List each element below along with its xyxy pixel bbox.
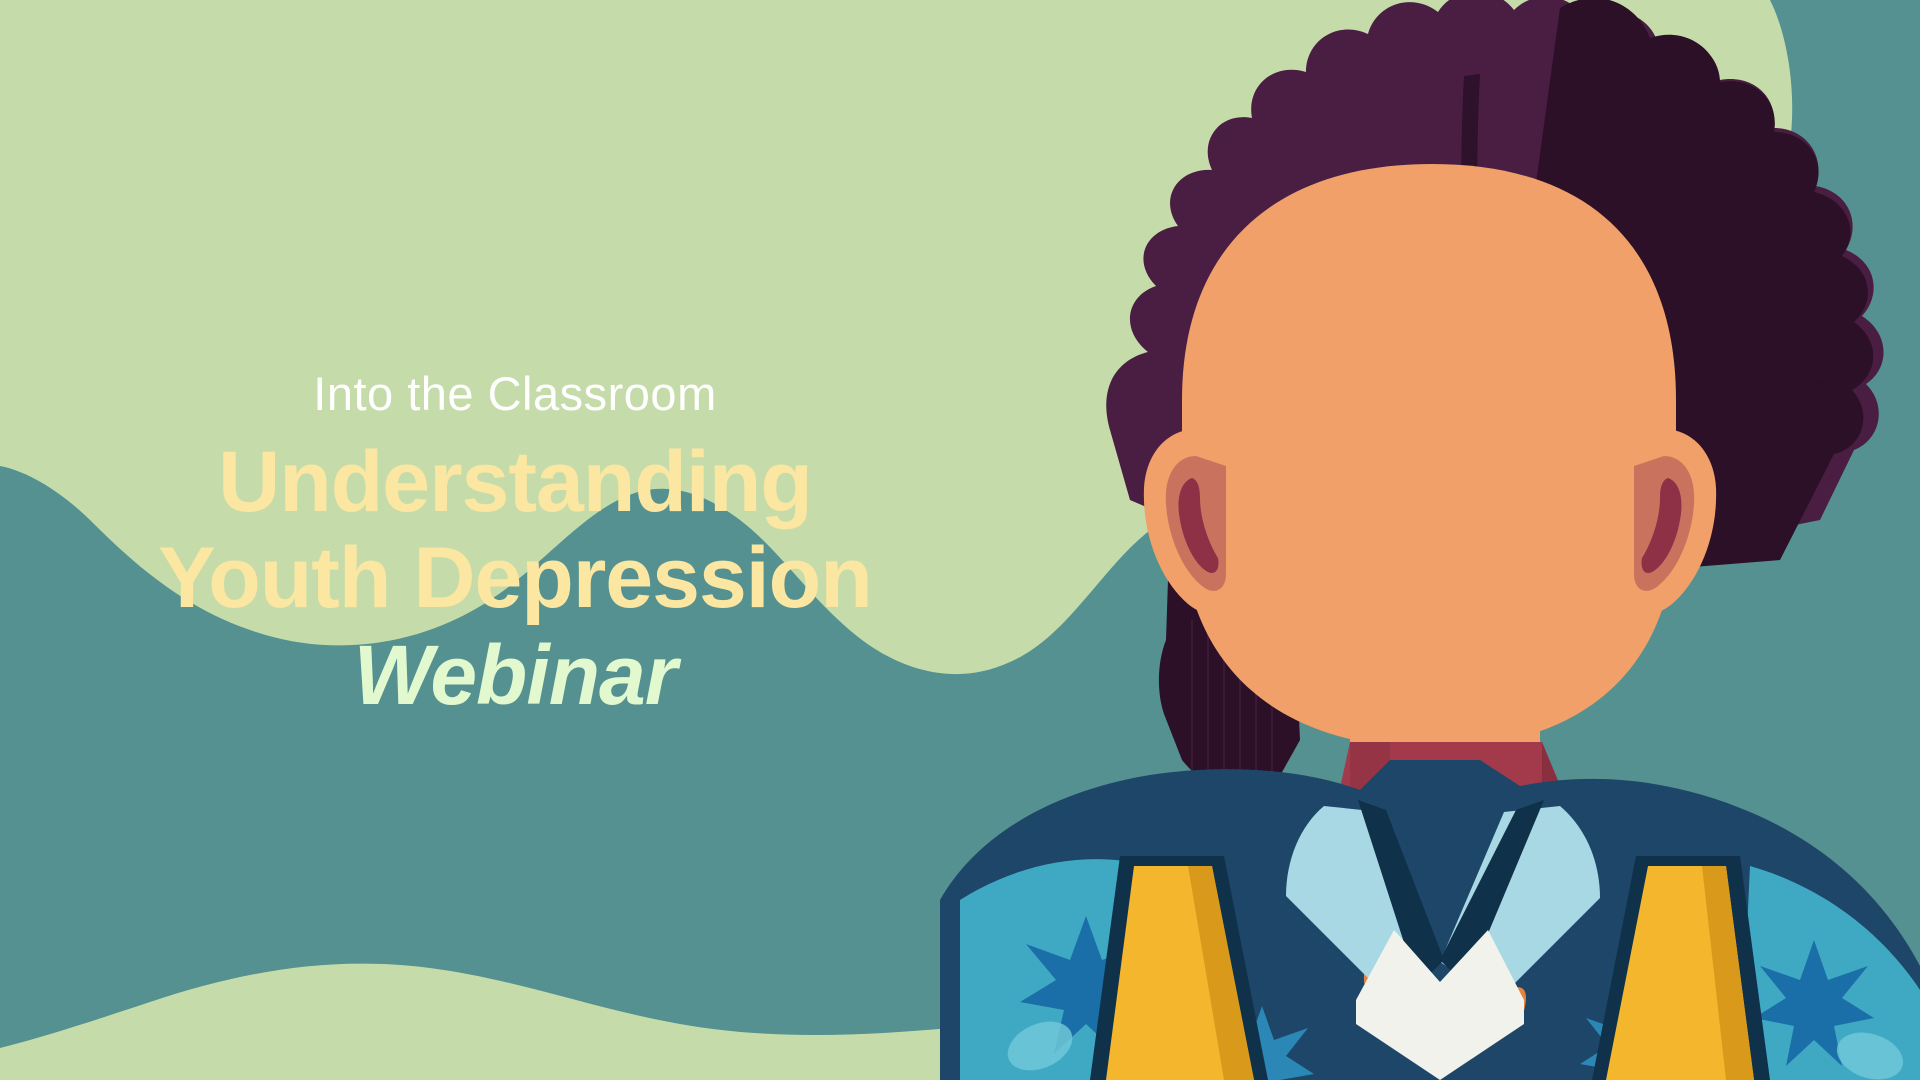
title-block: Into the Classroom Understanding Youth D… <box>0 368 1030 722</box>
webinar-banner: Into the Classroom Understanding Youth D… <box>0 0 1920 1080</box>
ear-right <box>1618 429 1716 614</box>
character-illustration <box>920 0 1920 1080</box>
ear-left <box>1144 429 1242 614</box>
subhead-text: Webinar <box>0 628 1030 722</box>
headline-line-1: Understanding <box>0 434 1030 530</box>
headline-line-2: Youth Depression <box>0 530 1030 626</box>
page-title: Understanding Youth Depression <box>0 434 1030 627</box>
eyebrow-text: Into the Classroom <box>0 368 1030 420</box>
shirt-group <box>920 760 1920 1080</box>
